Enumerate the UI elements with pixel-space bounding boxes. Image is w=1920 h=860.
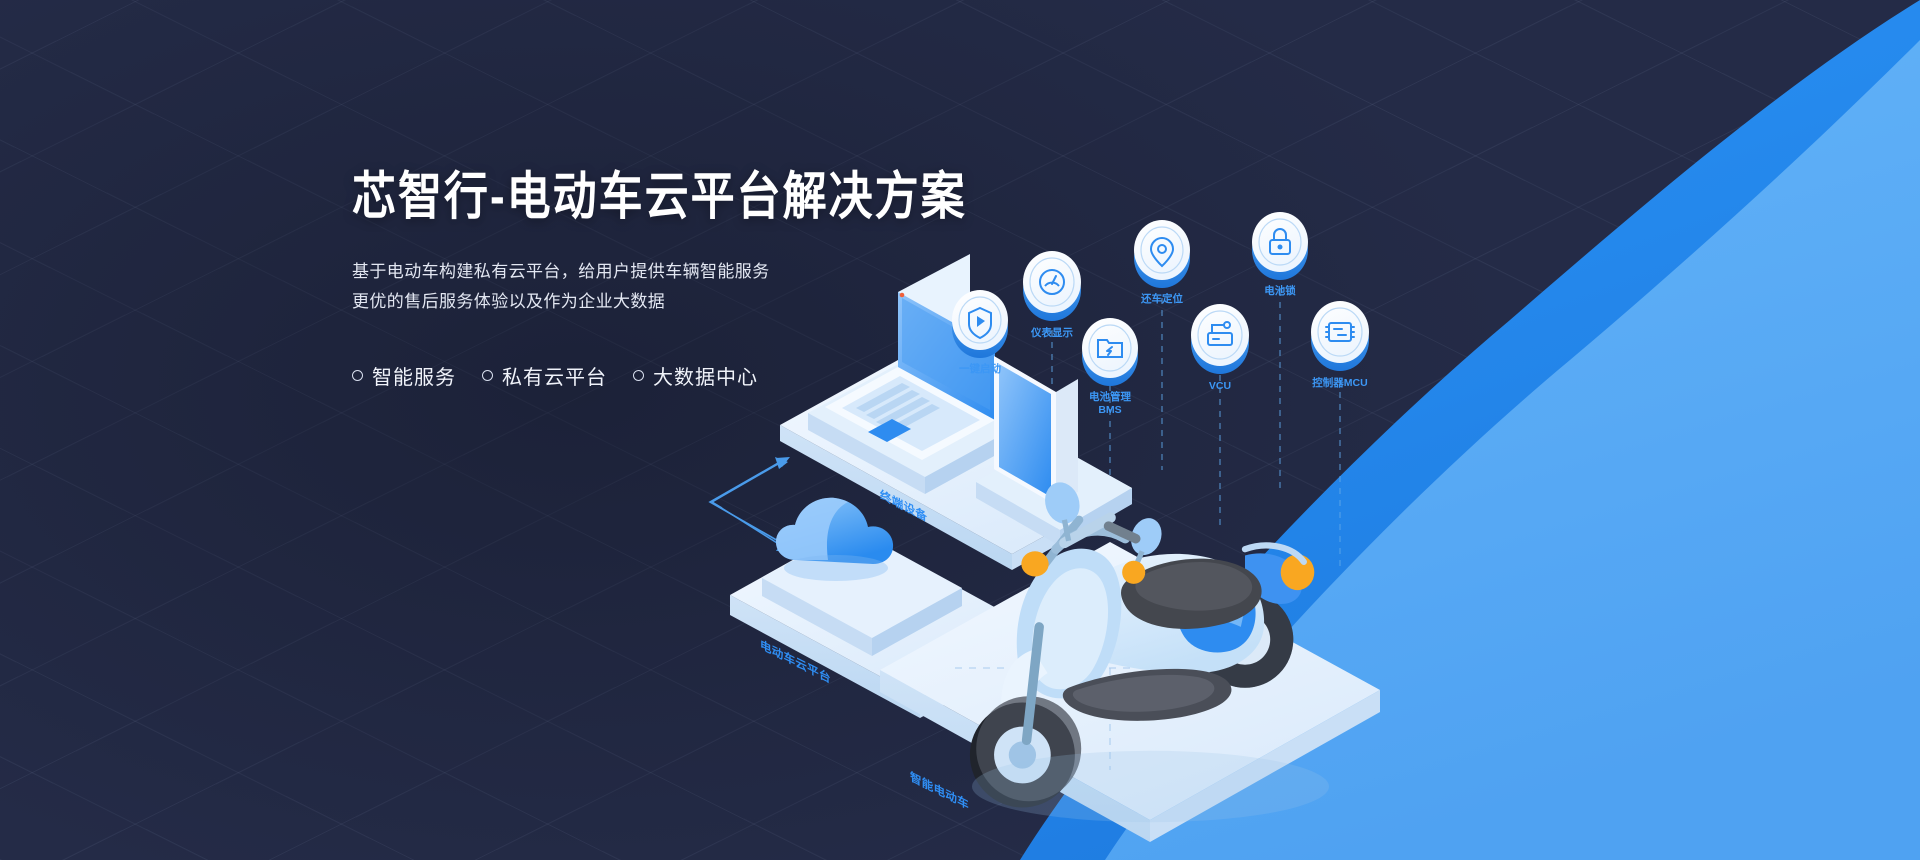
isometric-illustration: 终端设备 电 <box>780 170 1900 840</box>
feature-label: 私有云平台 <box>502 361 607 390</box>
badge-mcu[interactable]: 控制器MCU <box>1311 301 1369 389</box>
feature-item-private-cloud[interactable]: 私有云平台 <box>482 361 607 390</box>
badge-label: 仪表显示 <box>1030 326 1073 339</box>
hero-banner: 芯智行-电动车云平台解决方案 基于电动车构建私有云平台，给用户提供车辆智能服务 … <box>0 0 1920 860</box>
badge-label: 电池锁 <box>1264 284 1296 297</box>
feature-label: 智能服务 <box>372 361 456 390</box>
bullet-circle-icon <box>633 370 644 381</box>
badge-label: 一键启动 <box>959 362 1001 375</box>
bullet-circle-icon <box>352 370 363 381</box>
badge-return-locate[interactable]: 还车定位 <box>1134 220 1190 305</box>
vehicle-label: 智能电动车 <box>909 768 969 812</box>
feature-item-smart-service[interactable]: 智能服务 <box>352 361 456 390</box>
feature-label: 大数据中心 <box>653 361 758 390</box>
badge-sublabel: BMS <box>1098 404 1121 416</box>
badge-label: 控制器MCU <box>1312 376 1367 389</box>
badge-label: VCU <box>1209 380 1231 392</box>
bullet-circle-icon <box>482 370 493 381</box>
feature-item-big-data[interactable]: 大数据中心 <box>633 361 758 390</box>
badge-dashboard-display[interactable]: 仪表显示 <box>1023 251 1081 339</box>
badge-one-key-start[interactable]: 一键启动 <box>952 290 1008 375</box>
badge-battery-lock[interactable]: 电池锁 <box>1252 212 1308 297</box>
badge-label: 还车定位 <box>1140 292 1183 305</box>
badge-label: 电池管理 <box>1089 390 1131 403</box>
badge-battery-management[interactable]: 电池管理 BMS <box>1082 318 1138 416</box>
